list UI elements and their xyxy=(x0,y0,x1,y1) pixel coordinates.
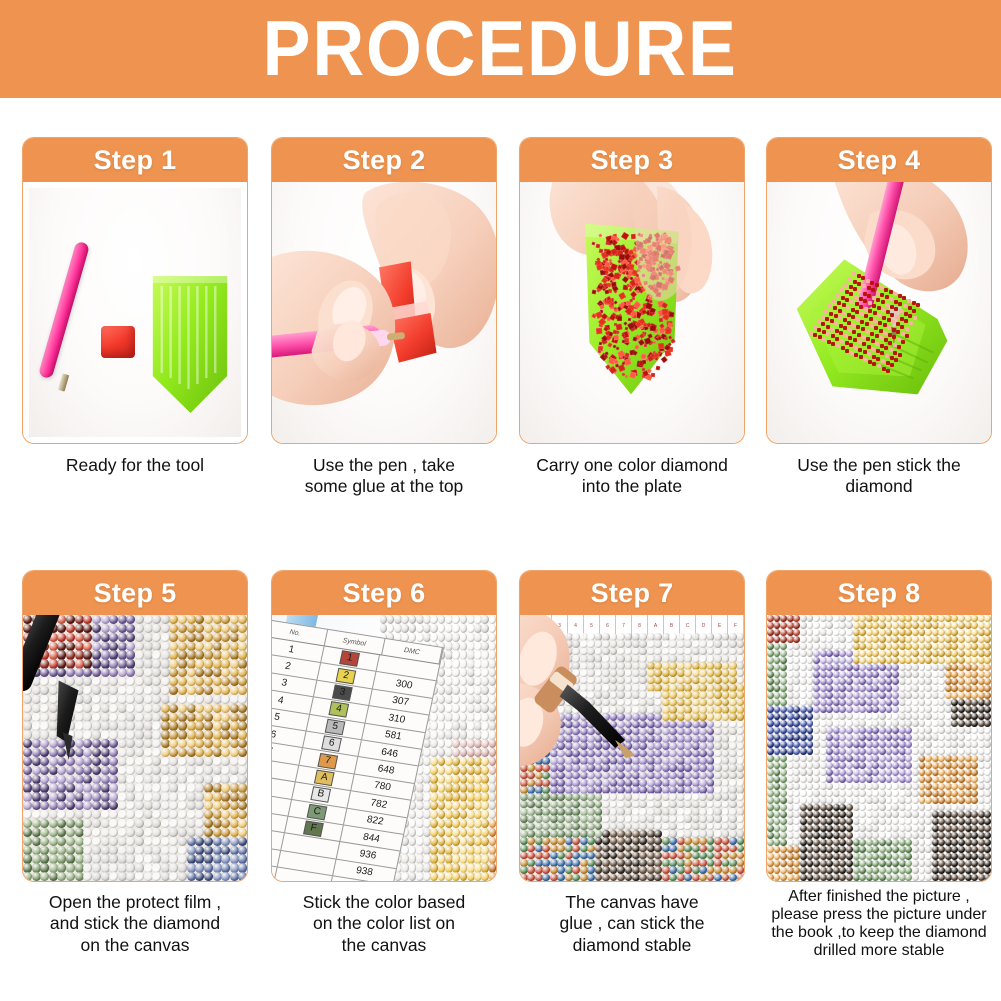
bead xyxy=(890,305,894,309)
mosaic-bead xyxy=(602,815,610,823)
mosaic-bead xyxy=(66,766,75,775)
mosaic-bead xyxy=(221,766,230,775)
bead xyxy=(890,313,894,317)
mosaic-bead xyxy=(669,793,677,801)
bead xyxy=(615,238,619,242)
bead xyxy=(831,342,835,346)
bead xyxy=(845,349,849,353)
mosaic-bead xyxy=(66,828,75,837)
mosaic-bead xyxy=(958,874,965,881)
bead xyxy=(875,334,879,338)
bead xyxy=(650,372,654,376)
mosaic-bead xyxy=(813,874,820,881)
mosaic-bead xyxy=(452,677,460,686)
mosaic-bead xyxy=(737,742,744,750)
bead xyxy=(670,339,675,344)
mosaic-bead xyxy=(684,793,692,801)
bead xyxy=(909,321,913,325)
bead xyxy=(817,320,821,324)
mosaic-bead xyxy=(489,766,496,775)
step-card-5-header: Step 5 xyxy=(23,571,247,615)
bead xyxy=(897,338,901,342)
mosaic-bead xyxy=(83,633,92,642)
bead xyxy=(898,294,902,298)
step-card-4-body xyxy=(767,182,991,443)
mosaic-bead xyxy=(714,713,722,721)
mosaic-bead xyxy=(729,640,737,648)
mosaic-bead xyxy=(430,810,438,819)
mosaic-bead xyxy=(204,695,213,704)
mosaic-bead xyxy=(135,748,144,757)
mosaic-bead xyxy=(602,793,610,801)
mosaic-bead xyxy=(135,615,144,624)
mosaic-bead xyxy=(587,640,595,648)
mosaic-bead xyxy=(481,695,489,704)
mosaic-bead xyxy=(221,757,230,766)
mosaic-bead xyxy=(669,866,677,874)
mosaic-bead xyxy=(714,640,722,648)
bead xyxy=(637,281,642,286)
mosaic-bead xyxy=(430,872,438,881)
mosaic-bead xyxy=(135,757,144,766)
bead xyxy=(858,289,862,293)
mosaic-bead xyxy=(83,624,92,633)
mosaic-bead xyxy=(238,810,247,819)
bead xyxy=(848,277,852,281)
mosaic-bead xyxy=(221,633,230,642)
mosaic-bead xyxy=(846,874,853,881)
bead xyxy=(830,327,834,331)
bead xyxy=(826,332,830,336)
mosaic-bead xyxy=(221,748,230,757)
page-title: PROCEDURE xyxy=(263,9,738,87)
mosaic-bead xyxy=(92,872,101,881)
mosaic-bead xyxy=(40,837,49,846)
step-card-6[interactable]: Step 6 No.SymbolDMC112230033307443105558… xyxy=(271,570,497,882)
mosaic-bead xyxy=(481,633,489,642)
bead xyxy=(834,314,838,318)
bead xyxy=(843,326,847,330)
mosaic-bead xyxy=(617,866,625,874)
mosaic-bead xyxy=(699,691,707,699)
bead xyxy=(830,319,834,323)
bead xyxy=(835,337,839,341)
mosaic-bead xyxy=(669,837,677,845)
mosaic-bead xyxy=(737,793,744,801)
bead xyxy=(644,281,648,285)
mosaic-bead xyxy=(912,874,919,881)
mosaic-bead xyxy=(572,866,580,874)
mosaic-bead xyxy=(135,624,144,633)
bead xyxy=(876,291,880,295)
mosaic-bead xyxy=(489,819,496,828)
mosaic-bead xyxy=(699,815,707,823)
mosaic-bead xyxy=(40,828,49,837)
bead xyxy=(883,331,887,335)
step-card-2[interactable]: Step 2 xyxy=(271,137,497,444)
bead xyxy=(833,306,837,310)
bead xyxy=(856,317,860,321)
mosaic-bead xyxy=(178,677,187,686)
mosaic-bead xyxy=(800,874,807,881)
bead xyxy=(890,363,894,367)
mosaic-bead xyxy=(92,677,101,686)
mosaic-bead xyxy=(195,695,204,704)
mosaic-bead xyxy=(572,742,580,750)
mosaic-bead xyxy=(238,748,247,757)
mosaic-bead xyxy=(195,837,204,846)
bead xyxy=(881,308,885,312)
mosaic-bead xyxy=(109,695,118,704)
step-2-label: Step 2 xyxy=(343,145,426,176)
step-1-caption: Ready for the tool xyxy=(22,455,248,476)
bead xyxy=(885,354,889,358)
mosaic-bead xyxy=(66,819,75,828)
mosaic-bead xyxy=(178,695,187,704)
bead xyxy=(904,319,908,323)
mosaic-bead xyxy=(83,828,92,837)
step-3-caption: Carry one color diamond into the plate xyxy=(519,455,745,498)
mosaic-bead xyxy=(684,866,692,874)
bead xyxy=(826,325,830,329)
mosaic-bead xyxy=(684,874,692,881)
mosaic-bead xyxy=(195,819,204,828)
mosaic-bead xyxy=(92,615,101,624)
mosaic-bead xyxy=(204,837,213,846)
mosaic-bead xyxy=(23,766,32,775)
bead xyxy=(893,343,897,347)
mosaic-bead xyxy=(489,633,496,642)
mosaic-bead xyxy=(714,793,722,801)
bead xyxy=(665,337,668,340)
bead xyxy=(653,352,659,358)
bead xyxy=(860,312,864,316)
mosaic-bead xyxy=(238,819,247,828)
mosaic-bead xyxy=(401,615,409,624)
bead xyxy=(644,344,647,347)
mosaic-bead xyxy=(23,615,32,624)
mosaic-bead xyxy=(729,669,737,677)
bead xyxy=(912,309,916,313)
mosaic-bead xyxy=(557,669,565,677)
mosaic-bead xyxy=(221,624,230,633)
bead xyxy=(834,321,838,325)
bead xyxy=(871,347,875,351)
mosaic-bead xyxy=(617,874,625,881)
mosaic-bead xyxy=(489,757,496,766)
bead xyxy=(821,322,825,326)
mosaic-bead xyxy=(879,874,886,881)
bead xyxy=(868,309,872,313)
mosaic-bead xyxy=(489,810,496,819)
bead xyxy=(866,337,870,341)
bead xyxy=(621,232,630,241)
step-2-caption: Use the pen , take some glue at the top xyxy=(271,455,497,498)
mosaic-bead xyxy=(23,624,32,633)
mosaic-bead xyxy=(66,677,75,686)
mosaic-bead xyxy=(602,713,610,721)
mosaic-bead xyxy=(602,874,610,881)
mosaic-bead xyxy=(195,624,204,633)
step-6-caption: Stick the color based on the color list … xyxy=(271,892,497,956)
bead xyxy=(892,328,896,332)
mosaic-bead xyxy=(489,624,496,633)
mosaic-bead xyxy=(204,615,213,624)
bead xyxy=(843,318,847,322)
mosaic-bead xyxy=(572,793,580,801)
mosaic-bead xyxy=(221,704,230,713)
mosaic-bead xyxy=(684,815,692,823)
mosaic-bead xyxy=(195,704,204,713)
step-card-1-header: Step 1 xyxy=(23,138,247,182)
bead xyxy=(875,283,879,287)
mosaic-bead xyxy=(729,713,737,721)
bead xyxy=(845,298,849,302)
mosaic-bead xyxy=(40,695,49,704)
mosaic-bead xyxy=(714,669,722,677)
bead xyxy=(873,319,877,323)
bead xyxy=(879,329,883,333)
finished-picture-photo xyxy=(767,615,991,881)
mosaic-bead xyxy=(587,815,595,823)
mosaic-bead xyxy=(92,757,101,766)
mosaic-bead xyxy=(204,872,213,881)
step-cell-4: Step 4 xyxy=(766,137,992,444)
mosaic-bead xyxy=(489,837,496,846)
mosaic-bead xyxy=(23,837,32,846)
mosaic-bead xyxy=(178,615,187,624)
mosaic-bead xyxy=(481,872,489,881)
mosaic-bead xyxy=(23,695,32,704)
mosaic-bead xyxy=(66,757,75,766)
mosaic-bead xyxy=(481,828,489,837)
mosaic-bead xyxy=(66,686,75,695)
bead xyxy=(831,334,835,338)
mosaic-bead xyxy=(152,748,161,757)
mosaic-bead xyxy=(178,810,187,819)
mosaic-bead xyxy=(714,764,722,772)
mosaic-bead xyxy=(23,686,32,695)
mosaic-bead xyxy=(699,764,707,772)
step-card-1-body xyxy=(23,182,247,443)
bead xyxy=(869,324,873,328)
bead xyxy=(900,325,904,329)
bead xyxy=(885,303,889,307)
red-diamond-beads xyxy=(520,182,744,443)
bead xyxy=(908,306,912,310)
mosaic-bead xyxy=(602,845,610,853)
bead xyxy=(871,288,875,292)
step-card-7[interactable]: Step 7 12345678ABCDEF xyxy=(519,570,745,882)
bead xyxy=(884,346,888,350)
mosaic-bead xyxy=(489,828,496,837)
mosaic-bead xyxy=(669,815,677,823)
bead xyxy=(822,338,826,342)
bead xyxy=(877,306,881,310)
bead xyxy=(903,304,907,308)
bead xyxy=(876,298,880,302)
mosaic-bead xyxy=(178,757,187,766)
mosaic-bead xyxy=(699,713,707,721)
mosaic-bead xyxy=(66,748,75,757)
mosaic-bead xyxy=(40,686,49,695)
step-card-4-header: Step 4 xyxy=(767,138,991,182)
mosaic-bead xyxy=(152,872,161,881)
mosaic-bead xyxy=(204,686,213,695)
mosaic-bead xyxy=(481,677,489,686)
bead xyxy=(618,364,625,371)
step-cell-3: Step 3 xyxy=(519,137,745,444)
bead xyxy=(890,356,894,360)
mosaic-bead xyxy=(557,764,565,772)
tool-kit-photo xyxy=(29,188,241,437)
mosaic-bead xyxy=(238,872,247,881)
mosaic-bead xyxy=(109,704,118,713)
bead xyxy=(854,346,858,350)
mosaic-bead xyxy=(40,615,49,624)
mosaic-bead xyxy=(66,615,75,624)
mosaic-bead xyxy=(92,819,101,828)
step-card-4[interactable]: Step 4 xyxy=(766,137,992,444)
mosaic-bead xyxy=(430,837,438,846)
mosaic-bead xyxy=(729,845,737,853)
steps-row-top: Step 1 xyxy=(0,137,1001,537)
mosaic-bead xyxy=(83,704,92,713)
bead xyxy=(849,292,853,296)
mosaic-bead xyxy=(489,615,496,624)
step-card-3[interactable]: Step 3 xyxy=(519,137,745,444)
mosaic-bead xyxy=(737,713,744,721)
mosaic-bead xyxy=(489,872,496,881)
bead xyxy=(827,340,831,344)
bead xyxy=(840,339,844,343)
bead xyxy=(665,327,672,334)
mosaic-bead xyxy=(587,669,595,677)
mosaic-bead xyxy=(92,695,101,704)
mosaic-bead xyxy=(178,828,187,837)
mosaic-bead xyxy=(617,764,625,772)
mosaic-bead xyxy=(178,872,187,881)
mosaic-bead xyxy=(587,793,595,801)
mosaic-bead xyxy=(617,721,625,729)
bead xyxy=(836,344,840,348)
bead xyxy=(895,315,899,319)
step-card-5[interactable]: Step 5 xyxy=(22,570,248,882)
bead xyxy=(846,305,850,309)
mosaic-bead xyxy=(452,686,460,695)
mosaic-bead xyxy=(452,704,460,713)
mosaic-bead xyxy=(135,686,144,695)
mosaic-bead xyxy=(109,819,118,828)
mosaic-bead xyxy=(23,748,32,757)
step-4-caption: Use the pen stick the diamond xyxy=(766,455,992,498)
mosaic-bead xyxy=(737,874,744,881)
mosaic-bead xyxy=(92,748,101,757)
mosaic-bead xyxy=(23,819,32,828)
mosaic-bead xyxy=(195,615,204,624)
bead xyxy=(817,328,821,332)
bead xyxy=(631,234,636,239)
mosaic-bead xyxy=(602,669,610,677)
mosaic-bead xyxy=(669,874,677,881)
mosaic-bead xyxy=(452,766,460,775)
step-card-8-body xyxy=(767,615,991,881)
bead xyxy=(867,286,871,290)
mosaic-bead xyxy=(572,764,580,772)
bead xyxy=(891,320,895,324)
mosaic-bead xyxy=(195,748,204,757)
mosaic-bead xyxy=(699,742,707,750)
mosaic-bead xyxy=(221,819,230,828)
bead xyxy=(908,314,912,318)
mosaic-bead xyxy=(714,845,722,853)
mosaic-bead xyxy=(572,874,580,881)
mosaic-bead xyxy=(135,819,144,828)
bead xyxy=(873,311,877,315)
mosaic-bead xyxy=(40,810,49,819)
mosaic-bead xyxy=(729,721,737,729)
mosaic-bead xyxy=(430,748,438,757)
mosaic-bead xyxy=(617,691,625,699)
bead xyxy=(617,316,622,321)
mosaic-bead xyxy=(714,742,722,750)
bead xyxy=(634,344,639,349)
mosaic-bead xyxy=(83,819,92,828)
step-card-7-header: Step 7 xyxy=(520,571,744,615)
mosaic-bead xyxy=(109,837,118,846)
mosaic-bead xyxy=(699,874,707,881)
mosaic-bead xyxy=(401,624,409,633)
bead xyxy=(659,318,663,322)
mosaic-bead xyxy=(66,695,75,704)
mosaic-bead xyxy=(729,742,737,750)
mosaic-bead xyxy=(204,704,213,713)
bead xyxy=(889,348,893,352)
step-card-1[interactable]: Step 1 xyxy=(22,137,248,444)
mosaic-bead xyxy=(238,633,247,642)
mosaic-bead xyxy=(481,819,489,828)
mosaic-bead xyxy=(557,713,565,721)
mosaic-bead xyxy=(40,624,49,633)
bead xyxy=(618,292,627,301)
bead xyxy=(592,242,595,245)
mosaic-bead xyxy=(684,669,692,677)
mosaic-bead xyxy=(178,837,187,846)
bead xyxy=(852,323,856,327)
bead xyxy=(851,315,855,319)
bead xyxy=(658,343,665,350)
bead xyxy=(888,333,892,337)
mosaic-bead xyxy=(602,640,610,648)
mosaic-bead xyxy=(23,828,32,837)
step-card-6-header: Step 6 xyxy=(272,571,496,615)
mosaic-bead xyxy=(204,624,213,633)
bead xyxy=(888,341,892,345)
step-3-label: Step 3 xyxy=(591,145,674,176)
bead xyxy=(650,274,657,281)
bead xyxy=(867,352,871,356)
bead xyxy=(883,323,887,327)
bead xyxy=(625,375,628,378)
mosaic-bead xyxy=(195,828,204,837)
bead xyxy=(625,358,632,365)
bead xyxy=(867,294,871,298)
mosaic-bead xyxy=(40,819,49,828)
bead xyxy=(863,350,867,354)
step-card-8[interactable]: Step 8 xyxy=(766,570,992,882)
bead xyxy=(886,369,890,373)
bead xyxy=(604,290,609,295)
